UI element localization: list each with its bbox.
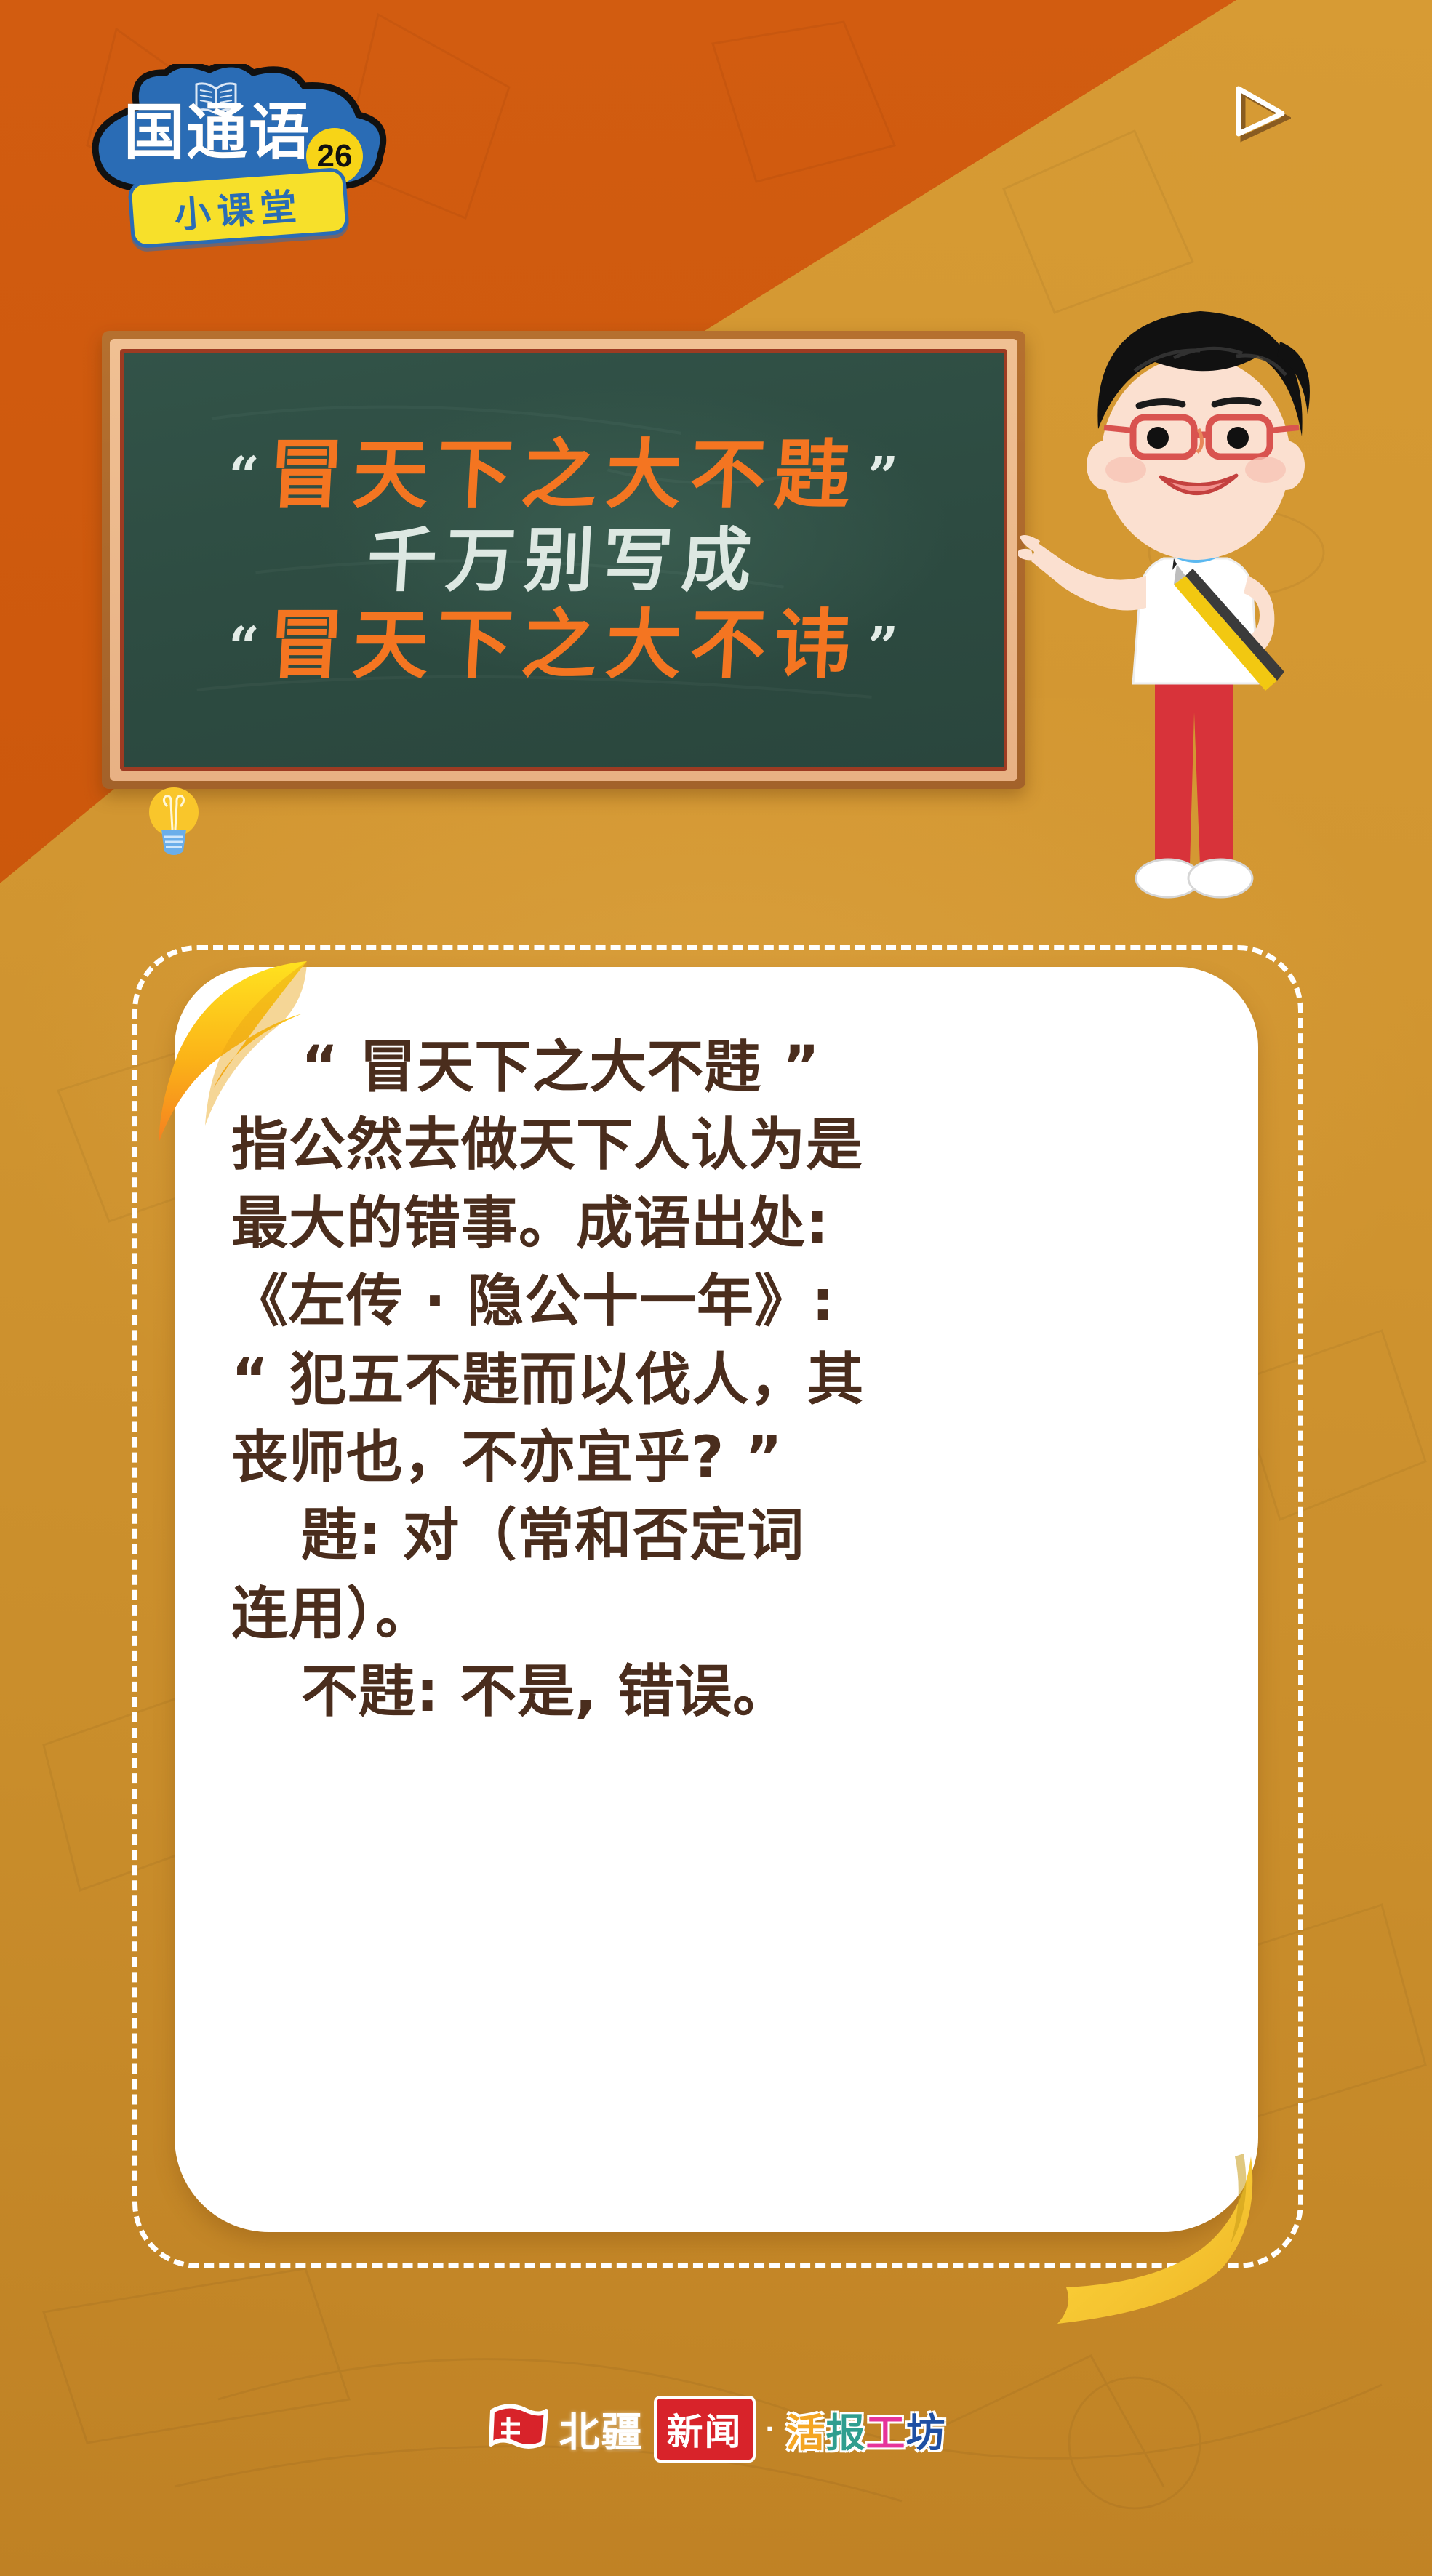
footer-workshop-char: 报 [826, 2410, 866, 2456]
footer-news-badge: 新闻 [654, 2396, 756, 2463]
poster-stage: 国通语 26 小课堂 “ 冒天下 [0, 0, 1432, 2576]
footer-workshop-char: 坊 [906, 2410, 946, 2456]
blackboard-surface: “ 冒天下之大不韪 ” 千万别写成 “ 冒天下之大不讳 ” [120, 349, 1007, 771]
content-paragraph: 最大的错事。成语出处: [231, 1187, 1206, 1261]
play-triangle-icon[interactable] [1224, 79, 1291, 145]
footer-brand-bar: 北疆 新闻 · 活报工坊 [0, 2389, 1432, 2469]
content-paragraph: 丧师也，不亦宜乎? ” [231, 1421, 1206, 1495]
close-quote-1: ” [868, 450, 899, 504]
blackboard-phrase-wrong: 冒天下之大不讳 [266, 607, 860, 683]
footer-workshop-name: 活报工坊 [786, 2401, 946, 2458]
content-paragraph: “ 犯五不韪而以伐人，其 [231, 1344, 1206, 1417]
footer-workshop-char: 活 [786, 2410, 826, 2456]
logo-title: 国通语 [124, 102, 311, 163]
blackboard-line-1: “ 冒天下之大不韪 ” [124, 437, 1004, 513]
logo-subtitle-text: 小课堂 [172, 177, 305, 238]
boy-legs-and-shoes [1136, 683, 1252, 897]
blackboard-line-3: “ 冒天下之大不讳 ” [124, 607, 1004, 683]
open-quote-2: “ [228, 620, 260, 674]
content-paragraph: 《左传 · 隐公十一年》: [231, 1265, 1206, 1339]
blackboard-phrase-correct: 冒天下之大不韪 [266, 437, 860, 513]
content-paragraph: 韪: 对（常和否定词 [231, 1499, 1206, 1573]
ribbon-curl-top-left [138, 945, 378, 1163]
footer-brand-name: 北疆 [559, 2400, 644, 2459]
red-flag-icon [487, 2402, 549, 2456]
open-quote-1: “ [228, 450, 260, 504]
close-quote-2: ” [868, 620, 899, 674]
blackboard: “ 冒天下之大不韪 ” 千万别写成 “ 冒天下之大不讳 ” [102, 331, 1025, 789]
blackboard-frame-inner: “ 冒天下之大不韪 ” 千万别写成 “ 冒天下之大不讳 ” [110, 339, 1017, 781]
logo-subtitle-ribbon: 小课堂 [127, 167, 350, 249]
content-paragraph: 连用）。 [231, 1578, 1206, 1651]
lightbulb-icon [145, 782, 202, 860]
boy-head [1087, 311, 1310, 560]
student-boy-illustration [1018, 247, 1360, 923]
footer-separator-dot: · [766, 2412, 776, 2447]
brand-logo-badge: 国通语 26 小课堂 [86, 64, 428, 238]
blackboard-line-2: 千万别写成 [124, 526, 1004, 595]
ribbon-curl-bottom-right [1004, 2145, 1295, 2356]
boy-torso [1133, 545, 1258, 683]
blackboard-warning-text: 千万别写成 [365, 526, 761, 595]
content-paragraph: 不韪: 不是, 错误。 [231, 1656, 1206, 1729]
footer-workshop-char: 工 [866, 2410, 906, 2456]
